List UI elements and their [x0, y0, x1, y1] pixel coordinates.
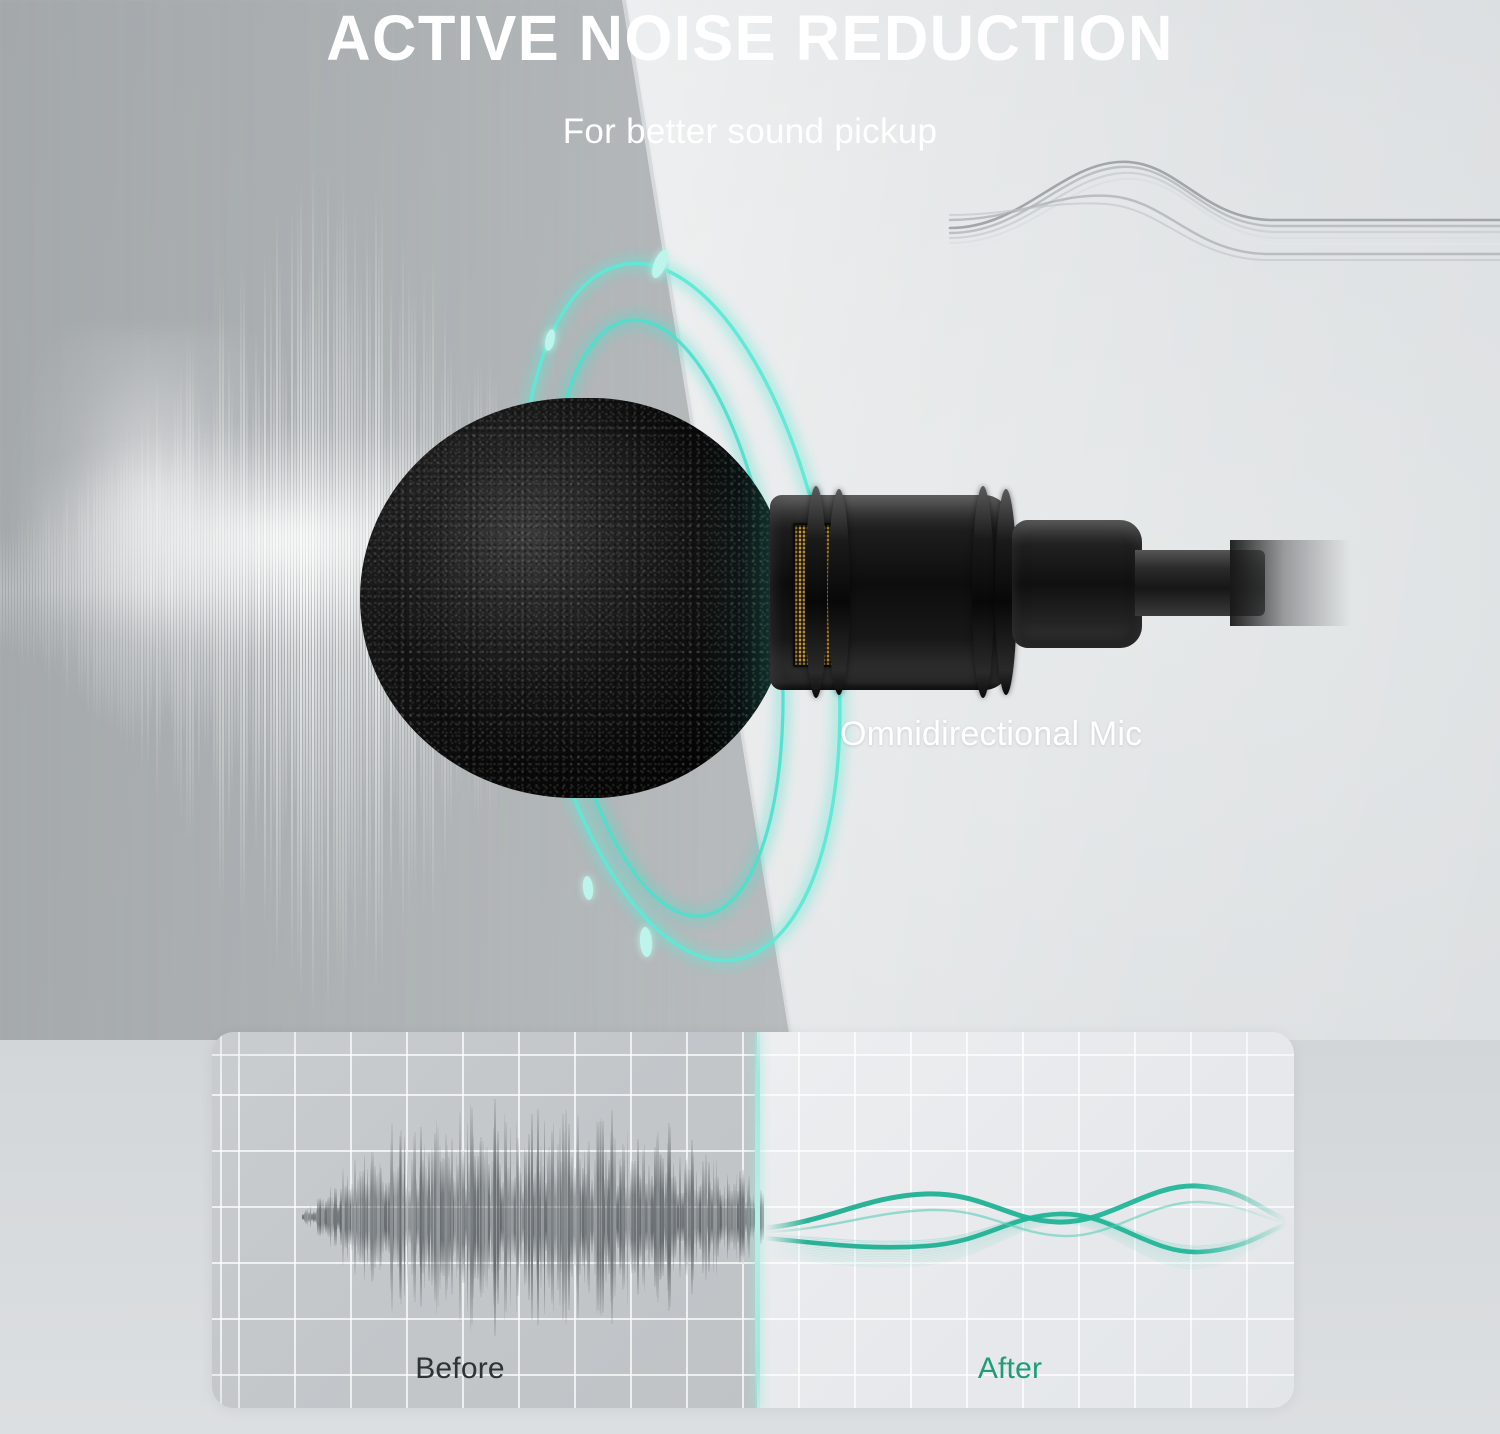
cable-filaments [950, 100, 1500, 320]
cable-fade [1230, 540, 1350, 626]
label-before: Before [330, 1352, 590, 1386]
panel-divider [755, 1032, 760, 1408]
before-waveform [302, 1092, 762, 1342]
label-after: After [880, 1352, 1140, 1386]
mic-ring [972, 486, 994, 698]
foam-windscreen-icon [360, 398, 790, 798]
page-title: ACTIVE NOISE REDUCTION [30, 6, 1470, 70]
mic-ring [828, 489, 850, 695]
after-waveform [757, 1142, 1294, 1312]
mic-ring [805, 486, 827, 698]
mic-neck [1012, 520, 1142, 648]
microphone [350, 390, 1130, 720]
mic-label: Omnidirectional Mic [840, 715, 1142, 754]
product-feature-image: ACTIVE NOISE REDUCTION For better sound … [0, 0, 1500, 1434]
